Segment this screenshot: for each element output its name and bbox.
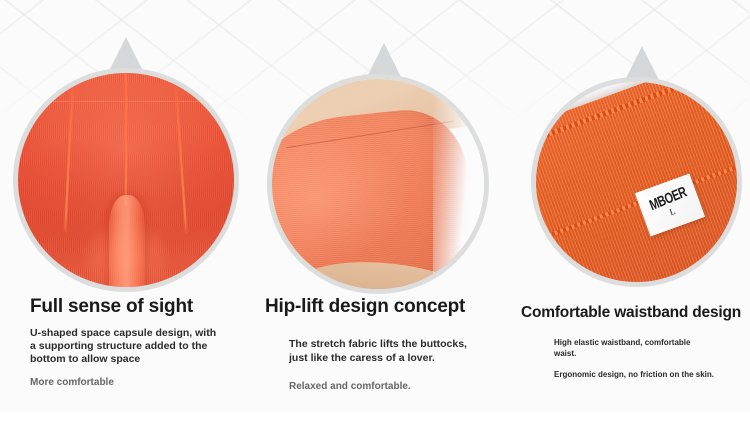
photo-background-edge (433, 92, 489, 294)
photo-seam-left (64, 82, 74, 232)
caption-block: Comfortable waistband design High elasti… (500, 303, 750, 379)
photo-fabric-texture: MBOER L (536, 82, 737, 282)
panel-body-line: U-shaped space capsule design, with (30, 327, 250, 340)
panel-subtext: Ergonomic design, no friction on the ski… (554, 370, 750, 379)
waistband-label-photo: MBOER L (531, 77, 742, 287)
panel-body: High elastic waistband, comfortable wais… (554, 337, 750, 359)
product-feature-banner: Full sense of sight U-shaped space capsu… (0, 0, 750, 421)
panel-body: The stretch fabric lifts the buttocks, j… (289, 337, 500, 365)
caption-block: Hip-lift design concept The stretch fabr… (250, 296, 500, 392)
panel-body-line: waist. (554, 348, 750, 359)
panel-body-line: just like the caress of a lover. (289, 351, 500, 365)
panel-title: Comfortable waistband design (521, 303, 750, 322)
panel-body: U-shaped space capsule design, with a su… (30, 327, 250, 366)
photo-seam-center (125, 73, 127, 206)
photo-fabric-texture (18, 73, 234, 287)
panel-body-line: High elastic waistband, comfortable (554, 337, 750, 348)
brand-name-text: MBOER (647, 184, 688, 214)
pointer-triangle-icon (109, 37, 143, 71)
panel-body-line: bottom to allow space (30, 353, 250, 366)
feature-panel-full-sense-of-sight: Full sense of sight U-shaped space capsu… (0, 0, 250, 421)
caption-block: Full sense of sight U-shaped space capsu… (0, 296, 250, 388)
pointer-triangle-icon (367, 43, 401, 77)
hip-lift-fabric-photo (267, 74, 489, 294)
photo-u-pouch-detail (109, 195, 146, 292)
panel-title: Full sense of sight (30, 296, 250, 318)
panel-title: Hip-lift design concept (265, 296, 500, 318)
bottom-white-strip (0, 412, 750, 421)
panel-subtext: More comfortable (30, 377, 250, 388)
photo-waistband (531, 77, 742, 287)
feature-panel-comfortable-waistband-design: MBOER L Comfortable waistband design Hig… (500, 0, 750, 421)
briefs-front-pouch-photo (13, 68, 239, 292)
pointer-triangle-icon (625, 46, 659, 80)
photo-fabric-texture (272, 79, 484, 289)
feature-panel-hip-lift-design-concept: Hip-lift design concept The stretch fabr… (250, 0, 500, 421)
photo-seam-right (175, 84, 187, 234)
panel-body-line: a supporting structure added to the (30, 340, 250, 353)
panel-body-line: The stretch fabric lifts the buttocks, (289, 337, 500, 351)
panel-subtext: Relaxed and comfortable. (289, 381, 500, 392)
